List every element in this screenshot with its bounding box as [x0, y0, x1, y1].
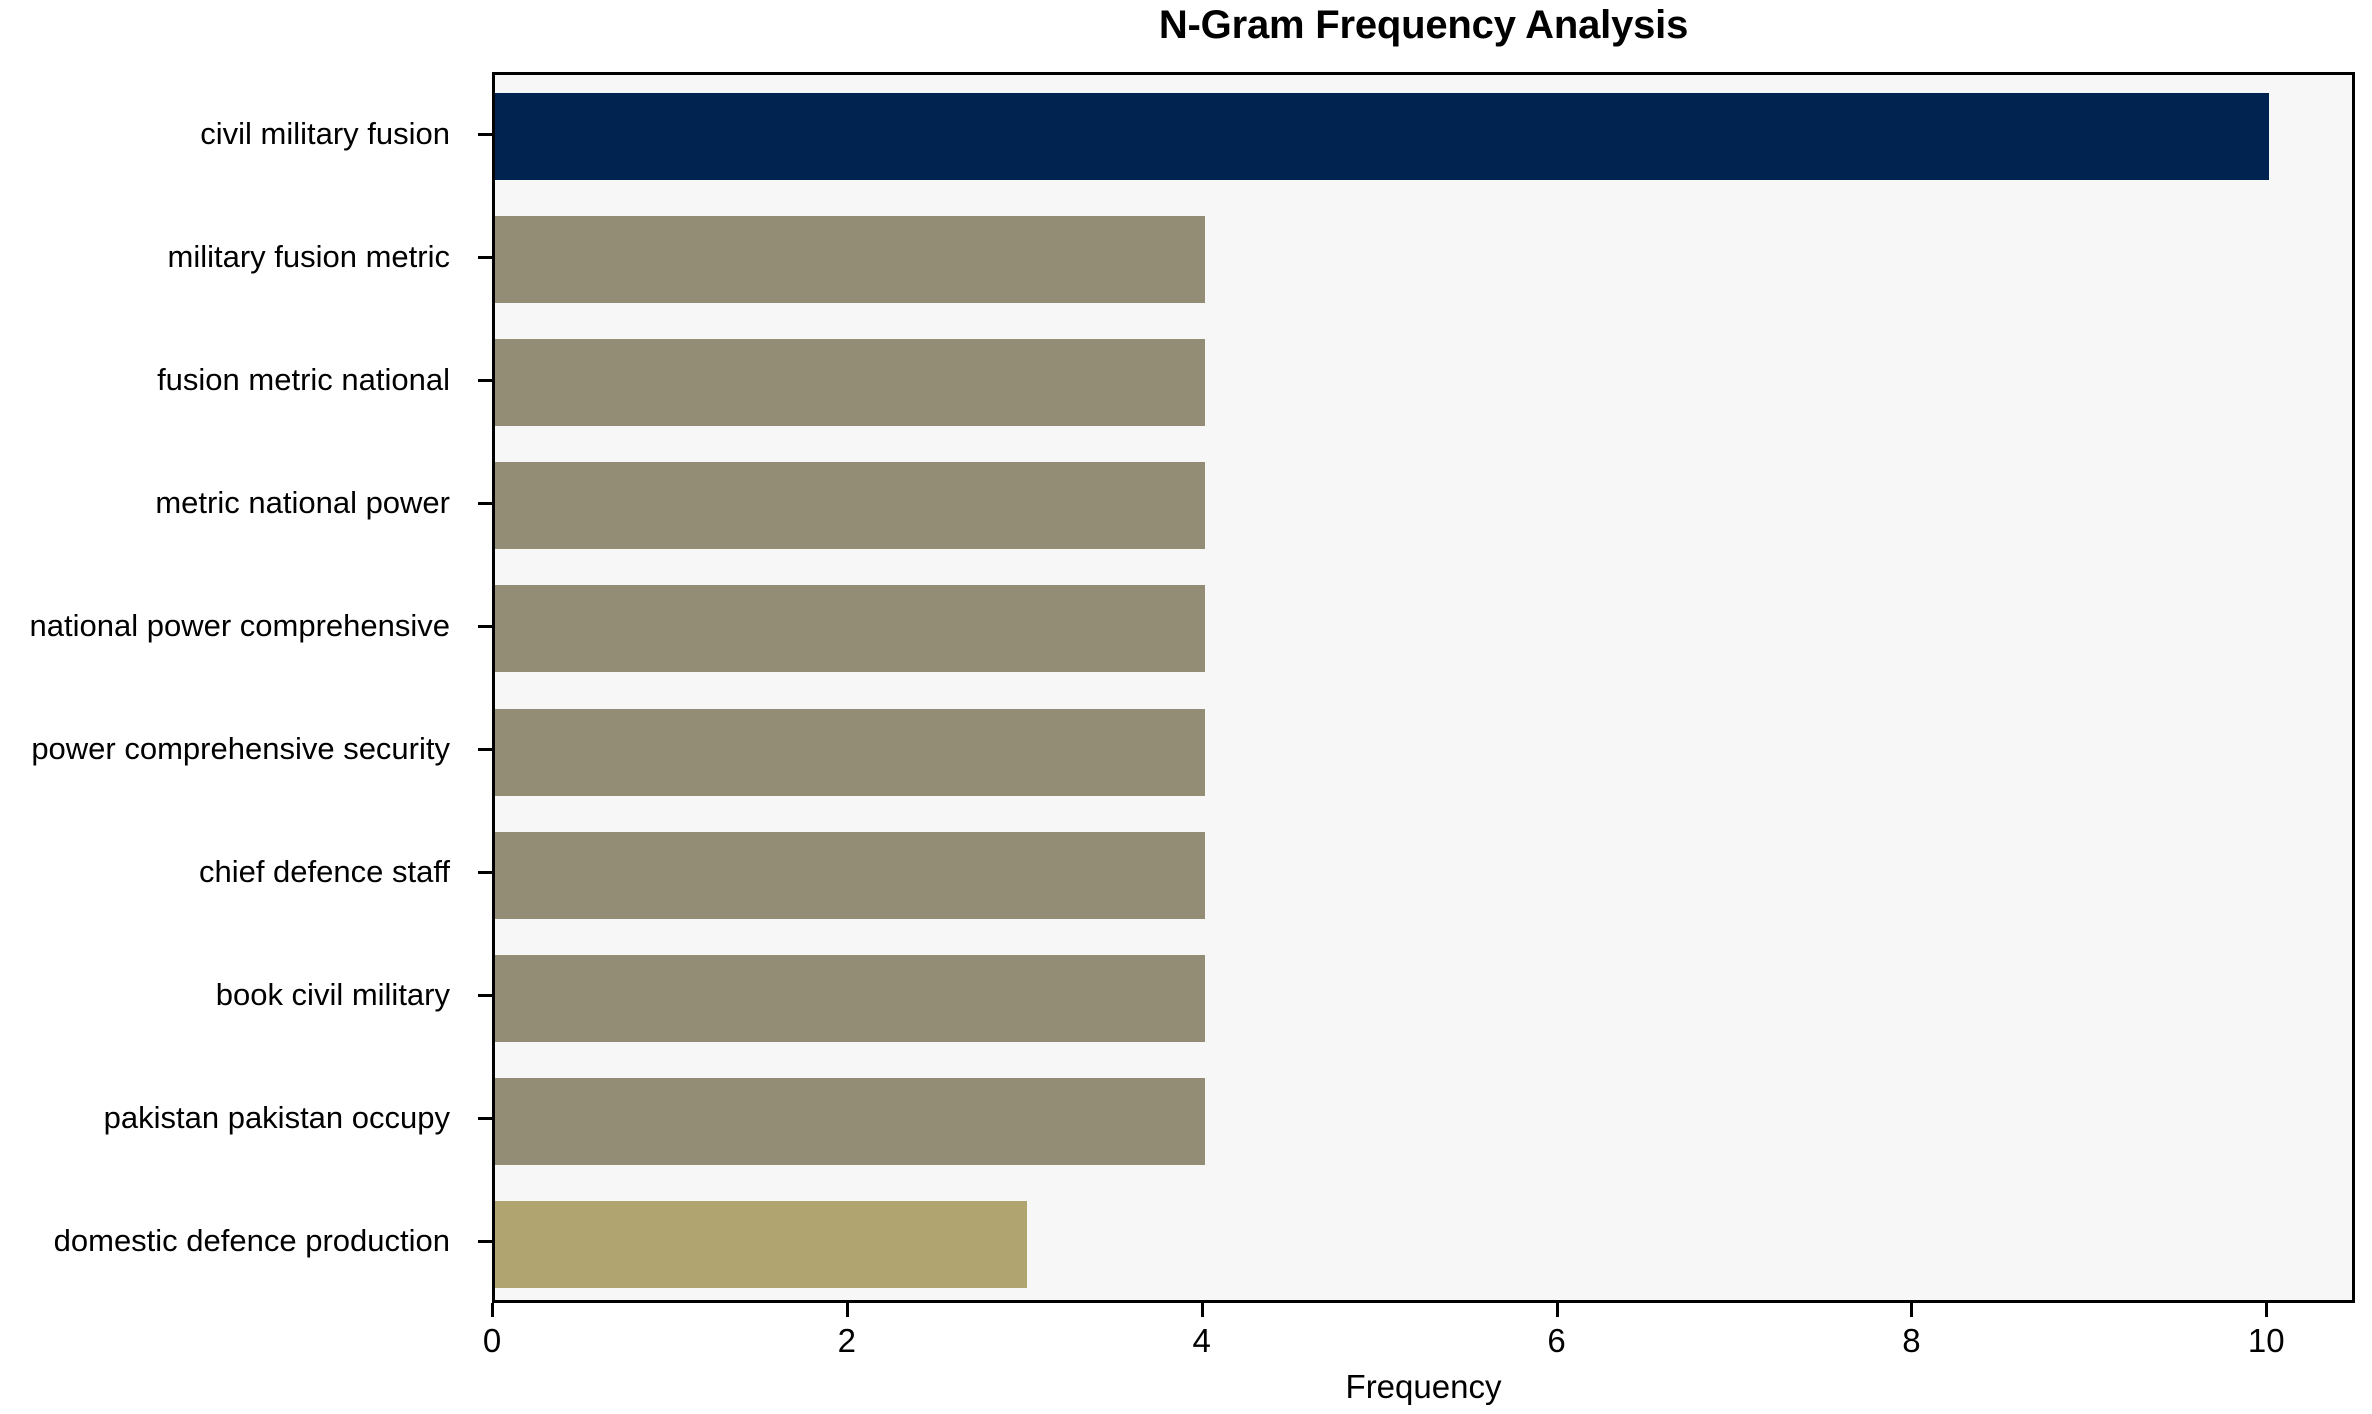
y-axis-tick-label: domestic defence production — [0, 1225, 468, 1256]
y-axis-tick-label: fusion metric national — [0, 364, 468, 395]
x-axis-tick-label: 6 — [1497, 1322, 1617, 1360]
y-axis-tick-label: civil military fusion — [0, 118, 468, 149]
y-axis-tick-mark — [478, 133, 492, 136]
x-axis-title: Frequency — [492, 1368, 2355, 1406]
y-axis-tick-label: military fusion metric — [0, 241, 468, 272]
y-axis-tick-mark — [478, 1240, 492, 1243]
bar — [495, 462, 1205, 549]
bar — [495, 93, 2269, 180]
x-axis-tick-label: 4 — [1142, 1322, 1262, 1360]
x-axis-tick-label: 0 — [432, 1322, 552, 1360]
y-axis-tick-mark — [478, 748, 492, 751]
bar — [495, 832, 1205, 919]
y-axis-tick-mark — [478, 502, 492, 505]
bar — [495, 339, 1205, 426]
y-axis-tick-mark — [478, 994, 492, 997]
x-axis-tick-label: 8 — [1851, 1322, 1971, 1360]
y-axis-tick-mark — [478, 871, 492, 874]
x-axis-tick-mark — [1910, 1303, 1913, 1317]
y-axis-tick-label: chief defence staff — [0, 856, 468, 887]
y-axis-tick-mark — [478, 1117, 492, 1120]
y-axis-tick-label: book civil military — [0, 979, 468, 1010]
ngram-frequency-chart: N-Gram Frequency Analysis civil military… — [0, 0, 2372, 1414]
x-axis-tick-label: 2 — [787, 1322, 907, 1360]
y-axis-tick-label: national power comprehensive — [0, 610, 468, 641]
bar — [495, 709, 1205, 796]
x-axis-tick-label: 10 — [2206, 1322, 2326, 1360]
y-axis-tick-mark — [478, 379, 492, 382]
y-axis-tick-label: power comprehensive security — [0, 733, 468, 764]
y-axis-tick-mark — [478, 256, 492, 259]
y-axis-tick-label: metric national power — [0, 487, 468, 518]
y-axis-tick-mark — [478, 625, 492, 628]
bar — [495, 955, 1205, 1042]
bar — [495, 1078, 1205, 1165]
y-axis-tick-labels: civil military fusionmilitary fusion met… — [0, 72, 468, 1303]
x-axis-tick-mark — [846, 1303, 849, 1317]
x-axis-tick-mark — [2265, 1303, 2268, 1317]
bars-layer — [495, 75, 2352, 1300]
x-axis-tick-mark — [491, 1303, 494, 1317]
y-axis-tick-label: pakistan pakistan occupy — [0, 1102, 468, 1133]
bar — [495, 216, 1205, 303]
x-axis-tick-mark — [1556, 1303, 1559, 1317]
x-axis-tick-mark — [1201, 1303, 1204, 1317]
bar — [495, 585, 1205, 672]
plot-area — [492, 72, 2355, 1303]
bar — [495, 1201, 1027, 1288]
chart-title: N-Gram Frequency Analysis — [492, 2, 2355, 48]
